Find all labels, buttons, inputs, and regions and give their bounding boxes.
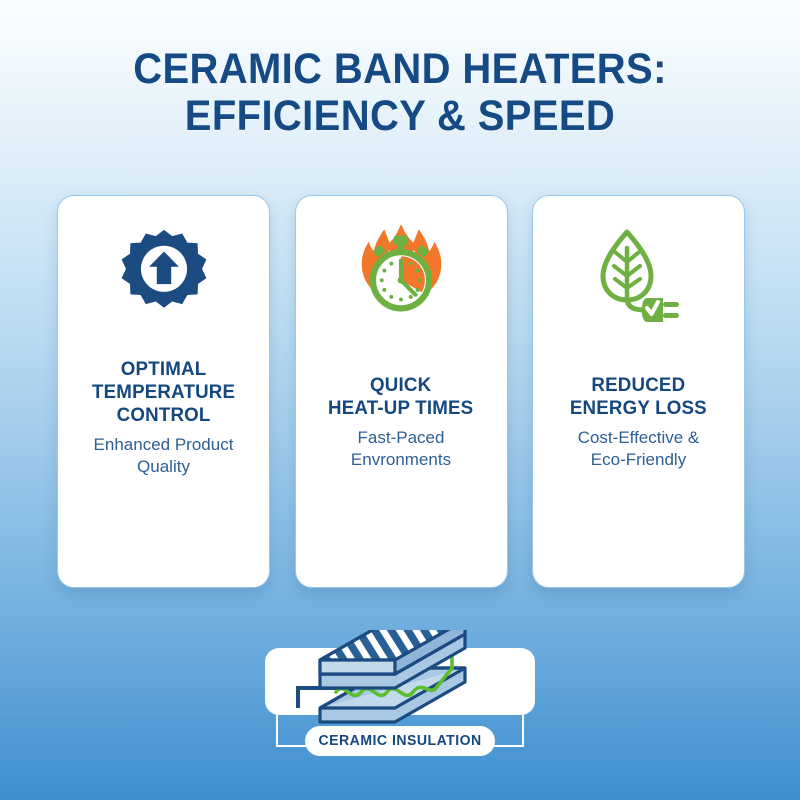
card-title: QUICK HEAT-UP TIMES	[321, 374, 482, 420]
title-line-2: EFFICIENCY & SPEED	[28, 93, 772, 140]
card-title-line: OPTIMAL	[92, 358, 235, 381]
card-subtitle: Cost-Effective & Eco-Friendly	[568, 420, 710, 471]
card-title-line: ENERGY LOSS	[570, 397, 707, 420]
feature-card-quick-heat-up-times[interactable]: QUICK HEAT-UP TIMES Fast-Paced Envronmen…	[295, 195, 508, 588]
leaf-plug-icon	[533, 196, 744, 346]
infographic-poster: CERAMIC BAND HEATERS: EFFICIENCY & SPEED…	[0, 0, 800, 800]
card-title-line: CONTROL	[92, 404, 235, 427]
card-subtitle: Fast-Paced Envronments	[341, 420, 461, 471]
card-title-line: QUICK	[328, 374, 473, 397]
ceramic-insulation-label: CERAMIC INSULATION	[318, 733, 481, 749]
card-title: REDUCED ENERGY LOSS	[562, 374, 714, 420]
feature-card-optimal-temperature-control[interactable]: OPTIMAL TEMPERATURE CONTROL Enhanced Pro…	[57, 195, 270, 588]
stopwatch-flame-icon	[296, 196, 507, 346]
card-subtitle-line: Fast-Paced	[351, 427, 451, 449]
feature-card-list: OPTIMAL TEMPERATURE CONTROL Enhanced Pro…	[57, 195, 745, 588]
card-subtitle-line: Envronments	[351, 449, 451, 471]
title-line-1: CERAMIC BAND HEATERS:	[28, 46, 772, 93]
card-title-line: HEAT-UP TIMES	[328, 397, 473, 420]
ceramic-insulation-label-pill: CERAMIC INSULATION	[305, 726, 495, 756]
gear-arrow-up-icon	[58, 196, 269, 346]
feature-card-reduced-energy-loss[interactable]: REDUCED ENERGY LOSS Cost-Effective & Eco…	[532, 195, 745, 588]
card-subtitle-line: Quality	[94, 456, 234, 478]
card-title: OPTIMAL TEMPERATURE CONTROL	[84, 358, 243, 427]
ceramic-insulation-diagram: CERAMIC INSULATION	[0, 620, 800, 800]
card-subtitle-line: Enhanced Product	[94, 434, 234, 456]
card-subtitle-line: Cost-Effective &	[578, 427, 700, 449]
card-title-line: TEMPERATURE	[92, 381, 235, 404]
card-title-line: REDUCED	[570, 374, 707, 397]
page-title: CERAMIC BAND HEATERS: EFFICIENCY & SPEED	[0, 46, 800, 140]
card-subtitle-line: Eco-Friendly	[578, 449, 700, 471]
card-subtitle: Enhanced Product Quality	[84, 427, 244, 478]
